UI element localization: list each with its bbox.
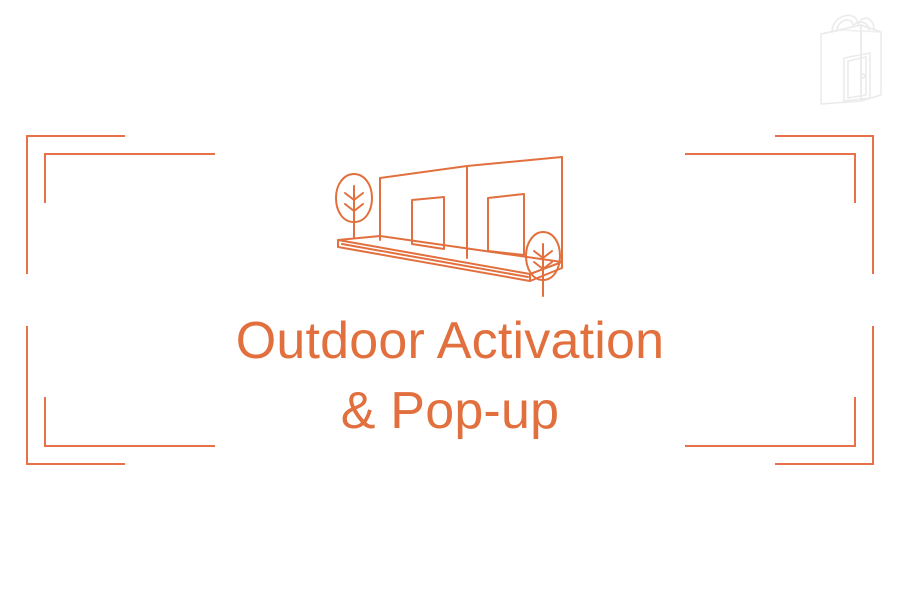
bracket-inner-horizontal bbox=[44, 153, 215, 155]
corner-bracket-top-left bbox=[0, 0, 260, 300]
bracket-outer-horizontal bbox=[26, 135, 125, 137]
bracket-inner-horizontal bbox=[685, 153, 856, 155]
bracket-inner-vertical bbox=[44, 153, 46, 203]
storefront-pop-up-illustration bbox=[322, 148, 578, 300]
page-title-line-1: Outdoor Activation bbox=[0, 306, 900, 376]
bracket-outer-horizontal bbox=[775, 135, 874, 137]
tree-left bbox=[336, 174, 372, 238]
bracket-inner-vertical bbox=[854, 153, 856, 203]
storefront-illustration-svg bbox=[322, 148, 578, 300]
page-title-line-2: & Pop-up bbox=[0, 376, 900, 446]
page-title: Outdoor Activation & Pop-up bbox=[0, 306, 900, 446]
shopping-bag-icon bbox=[814, 8, 890, 108]
shopping-bag-icon-svg bbox=[814, 8, 890, 108]
bracket-outer-vertical bbox=[872, 135, 874, 274]
bracket-outer-horizontal bbox=[26, 463, 125, 465]
bracket-outer-horizontal bbox=[775, 463, 874, 465]
slide-canvas: Outdoor Activation & Pop-up bbox=[0, 0, 900, 600]
bracket-outer-vertical bbox=[26, 135, 28, 274]
door-right bbox=[488, 194, 524, 255]
